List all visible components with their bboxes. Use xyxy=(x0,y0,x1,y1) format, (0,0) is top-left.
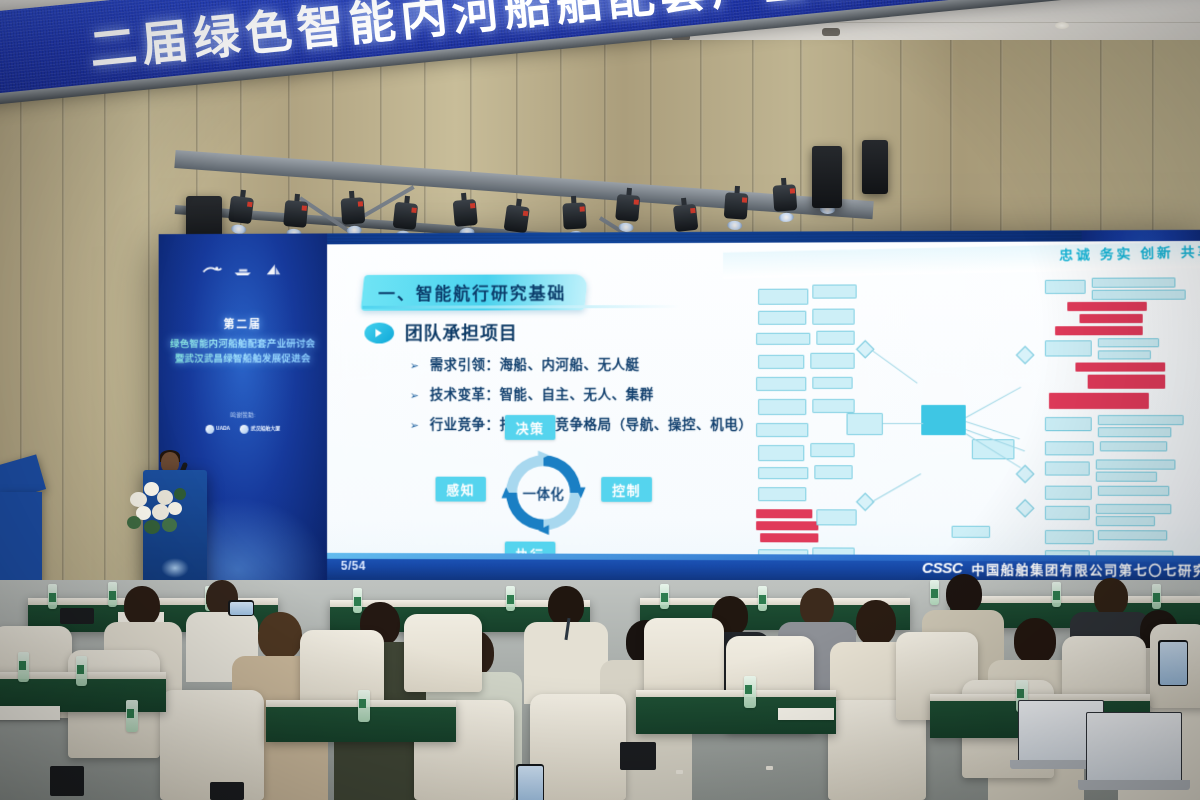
water-bottle xyxy=(48,584,57,609)
bullet-arrow-icon: ➢ xyxy=(410,359,419,372)
mindmap-branch-marker xyxy=(1016,346,1035,365)
water-bottle xyxy=(108,582,117,607)
subsection-row: 团队承担项目 xyxy=(364,319,517,345)
smartphone xyxy=(516,764,544,800)
mindmap-branch-marker xyxy=(1016,465,1035,484)
stage-light xyxy=(227,189,255,232)
water-bottle xyxy=(506,586,515,611)
subsection-title: 团队承担项目 xyxy=(405,319,518,345)
presentation-slide: 忠诚 务实 创新 共享 一、智能航行研究基础 团队承担项目 ➢ 需求引领：海船、… xyxy=(327,241,1200,583)
water-bottle xyxy=(18,652,29,682)
ship-logo-icon xyxy=(232,263,254,278)
mindmap-node xyxy=(847,413,883,435)
stage-light xyxy=(562,195,587,236)
document-paper xyxy=(0,706,60,720)
smartphone xyxy=(228,600,254,616)
footer-org-name: 中国船舶集团有限公司第七〇七研究所 xyxy=(971,559,1200,579)
stage-light xyxy=(340,190,366,232)
av-box xyxy=(60,608,94,624)
integration-cycle-diagram: 决策 控制 执行 感知 一体化 xyxy=(443,415,642,567)
smartphone xyxy=(1158,640,1188,686)
ceiling-speaker xyxy=(822,28,840,36)
list-item: ➢ 需求引领：海船、内河船、无人艇 xyxy=(410,353,753,373)
floral-arrangement xyxy=(124,472,224,540)
side-banner-title: 第二届 绿色智能内河船舶配套产业研讨会 暨武汉武昌绿智船舶发展促进会 xyxy=(159,316,327,367)
av-box xyxy=(620,742,656,770)
water-bottle xyxy=(1152,584,1161,609)
mindmap-branch-marker xyxy=(1016,499,1035,518)
chair xyxy=(530,694,626,800)
chair xyxy=(404,614,482,692)
water-bottle xyxy=(744,676,756,708)
pa-speaker xyxy=(862,140,888,194)
water-bottle xyxy=(126,700,138,732)
mindmap-diagram xyxy=(754,275,1200,571)
bullet-arrow-icon: ➢ xyxy=(410,389,419,402)
chevron-right-icon xyxy=(364,322,394,343)
sponsor-label: 鸣谢赞助: xyxy=(159,410,327,419)
water-bottle xyxy=(76,656,87,686)
side-banner-logos xyxy=(159,233,327,278)
cycle-center-label: 一体化 xyxy=(498,447,589,539)
av-box xyxy=(210,782,244,800)
cycle-label-left: 感知 xyxy=(436,477,486,502)
stage-light xyxy=(723,185,749,227)
stage-light xyxy=(452,192,478,234)
water-bottle xyxy=(930,580,939,605)
slide-slogan: 忠诚 务实 创新 共享 xyxy=(1059,241,1200,264)
bottle-cap xyxy=(766,766,773,770)
cycle-label-right: 控制 xyxy=(601,477,652,502)
av-box xyxy=(50,766,84,796)
sponsor-wuhan: 武汉船舶大厦 xyxy=(240,425,280,434)
main-led-wall: 第二届 绿色智能内河船舶配套产业研讨会 暨武汉武昌绿智船舶发展促进会 鸣谢赞助:… xyxy=(159,230,1200,594)
stage-light xyxy=(615,187,641,229)
sponsor-uada: UADA xyxy=(205,425,230,434)
sponsor-logos: UADA 武汉船舶大厦 xyxy=(159,425,327,434)
water-bottle xyxy=(353,588,362,613)
equipment-case xyxy=(0,492,42,584)
cycle-label-top: 决策 xyxy=(505,415,556,440)
stage-light xyxy=(772,177,798,219)
wave-logo-icon xyxy=(202,264,224,279)
bullet-text: 需求引领：海船、内河船、无人艇 xyxy=(430,353,640,373)
sail-logo-icon xyxy=(262,263,284,278)
downlight xyxy=(1055,22,1069,29)
list-item: ➢ 技术变革：智能、自主、无人、集群 xyxy=(410,383,753,403)
mindmap-node xyxy=(952,526,991,538)
pa-speaker xyxy=(812,146,842,208)
water-bottle xyxy=(358,690,370,722)
stage-light xyxy=(392,195,419,237)
slide-page-number: 5/54 xyxy=(341,559,366,573)
water-bottle xyxy=(660,584,669,609)
side-banner-line3: 暨武汉武昌绿智船舶发展促进会 xyxy=(166,352,319,367)
section-heading-text: 一、智能航行研究基础 xyxy=(378,279,566,304)
slide-footer: 5/54 CSSC 中国船舶集团有限公司第七〇七研究所 xyxy=(327,553,1200,583)
water-bottle xyxy=(1052,582,1061,607)
side-banner-line2: 绿色智能内河船舶配套产业研讨会 xyxy=(166,337,319,352)
conference-hall-photo: 二届绿色智能内河船舶配套产业研讨会暨武汉武昌绿智船舶发展促进会 xyxy=(0,0,1200,800)
bottle-cap xyxy=(676,770,683,774)
water-bottle xyxy=(758,586,767,611)
side-banner-line1: 第二届 xyxy=(166,316,319,332)
document-paper xyxy=(778,708,834,720)
stage-light xyxy=(283,193,309,235)
bullet-text: 技术变革：智能、自主、无人、集群 xyxy=(430,383,654,403)
mindmap-core-node xyxy=(921,405,966,435)
bullet-arrow-icon: ➢ xyxy=(410,419,419,432)
